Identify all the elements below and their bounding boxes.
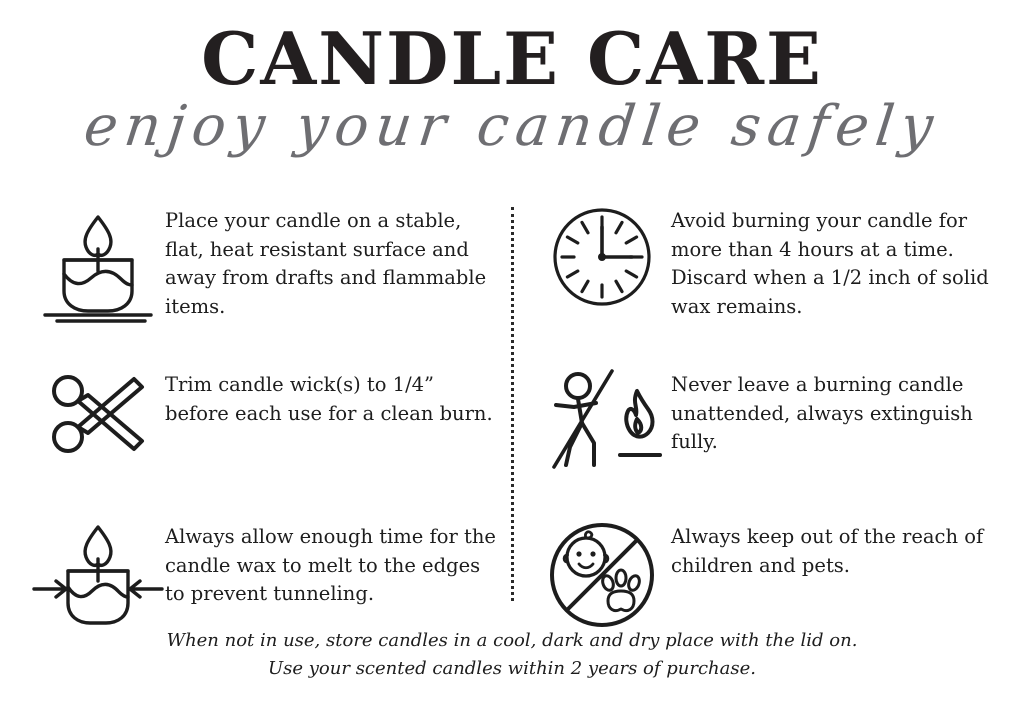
- tip-item: Trim candle wick(s) to 1/4” before each …: [30, 369, 500, 499]
- tip-text: Avoid burning your candle for more than …: [671, 205, 1003, 322]
- tip-item: Always keep out of the reach of children…: [533, 521, 1003, 641]
- tip-item: Always allow enough time for the candle …: [30, 521, 500, 641]
- footer: When not in use, store candles in a cool…: [0, 627, 1024, 683]
- tip-text: Never leave a burning candle unattended,…: [671, 369, 1003, 457]
- tip-text: Trim candle wick(s) to 1/4” before each …: [165, 369, 500, 428]
- tip-item: Avoid burning your candle for more than …: [533, 205, 1003, 347]
- column-divider: [511, 207, 514, 601]
- footer-line-1: When not in use, store candles in a cool…: [0, 627, 1024, 655]
- tip-item: Place your candle on a stable, flat, hea…: [30, 205, 500, 347]
- candle-jar-on-surface-icon: [30, 205, 165, 323]
- candle-care-infographic: CANDLE CARE enjoy your candle safely: [0, 0, 1024, 717]
- header: CANDLE CARE: [0, 22, 1024, 95]
- scissors-icon: [30, 369, 165, 461]
- tip-text: Always allow enough time for the candle …: [165, 521, 500, 609]
- no-children-pets-icon: [533, 521, 671, 629]
- clock-icon: [533, 205, 671, 309]
- person-leaving-fire-icon: [533, 369, 671, 469]
- tip-item: Never leave a burning candle unattended,…: [533, 369, 1003, 499]
- tip-text: Place your candle on a stable, flat, hea…: [165, 205, 500, 322]
- page-subtitle: enjoy your candle safely: [0, 96, 1024, 158]
- page-title: CANDLE CARE: [0, 22, 1024, 95]
- left-column: Place your candle on a stable, flat, hea…: [30, 205, 500, 663]
- tip-text: Always keep out of the reach of children…: [671, 521, 1003, 580]
- right-column: Avoid burning your candle for more than …: [533, 205, 1003, 663]
- footer-line-2: Use your scented candles within 2 years …: [0, 655, 1024, 683]
- candle-melt-to-edges-icon: [30, 521, 165, 633]
